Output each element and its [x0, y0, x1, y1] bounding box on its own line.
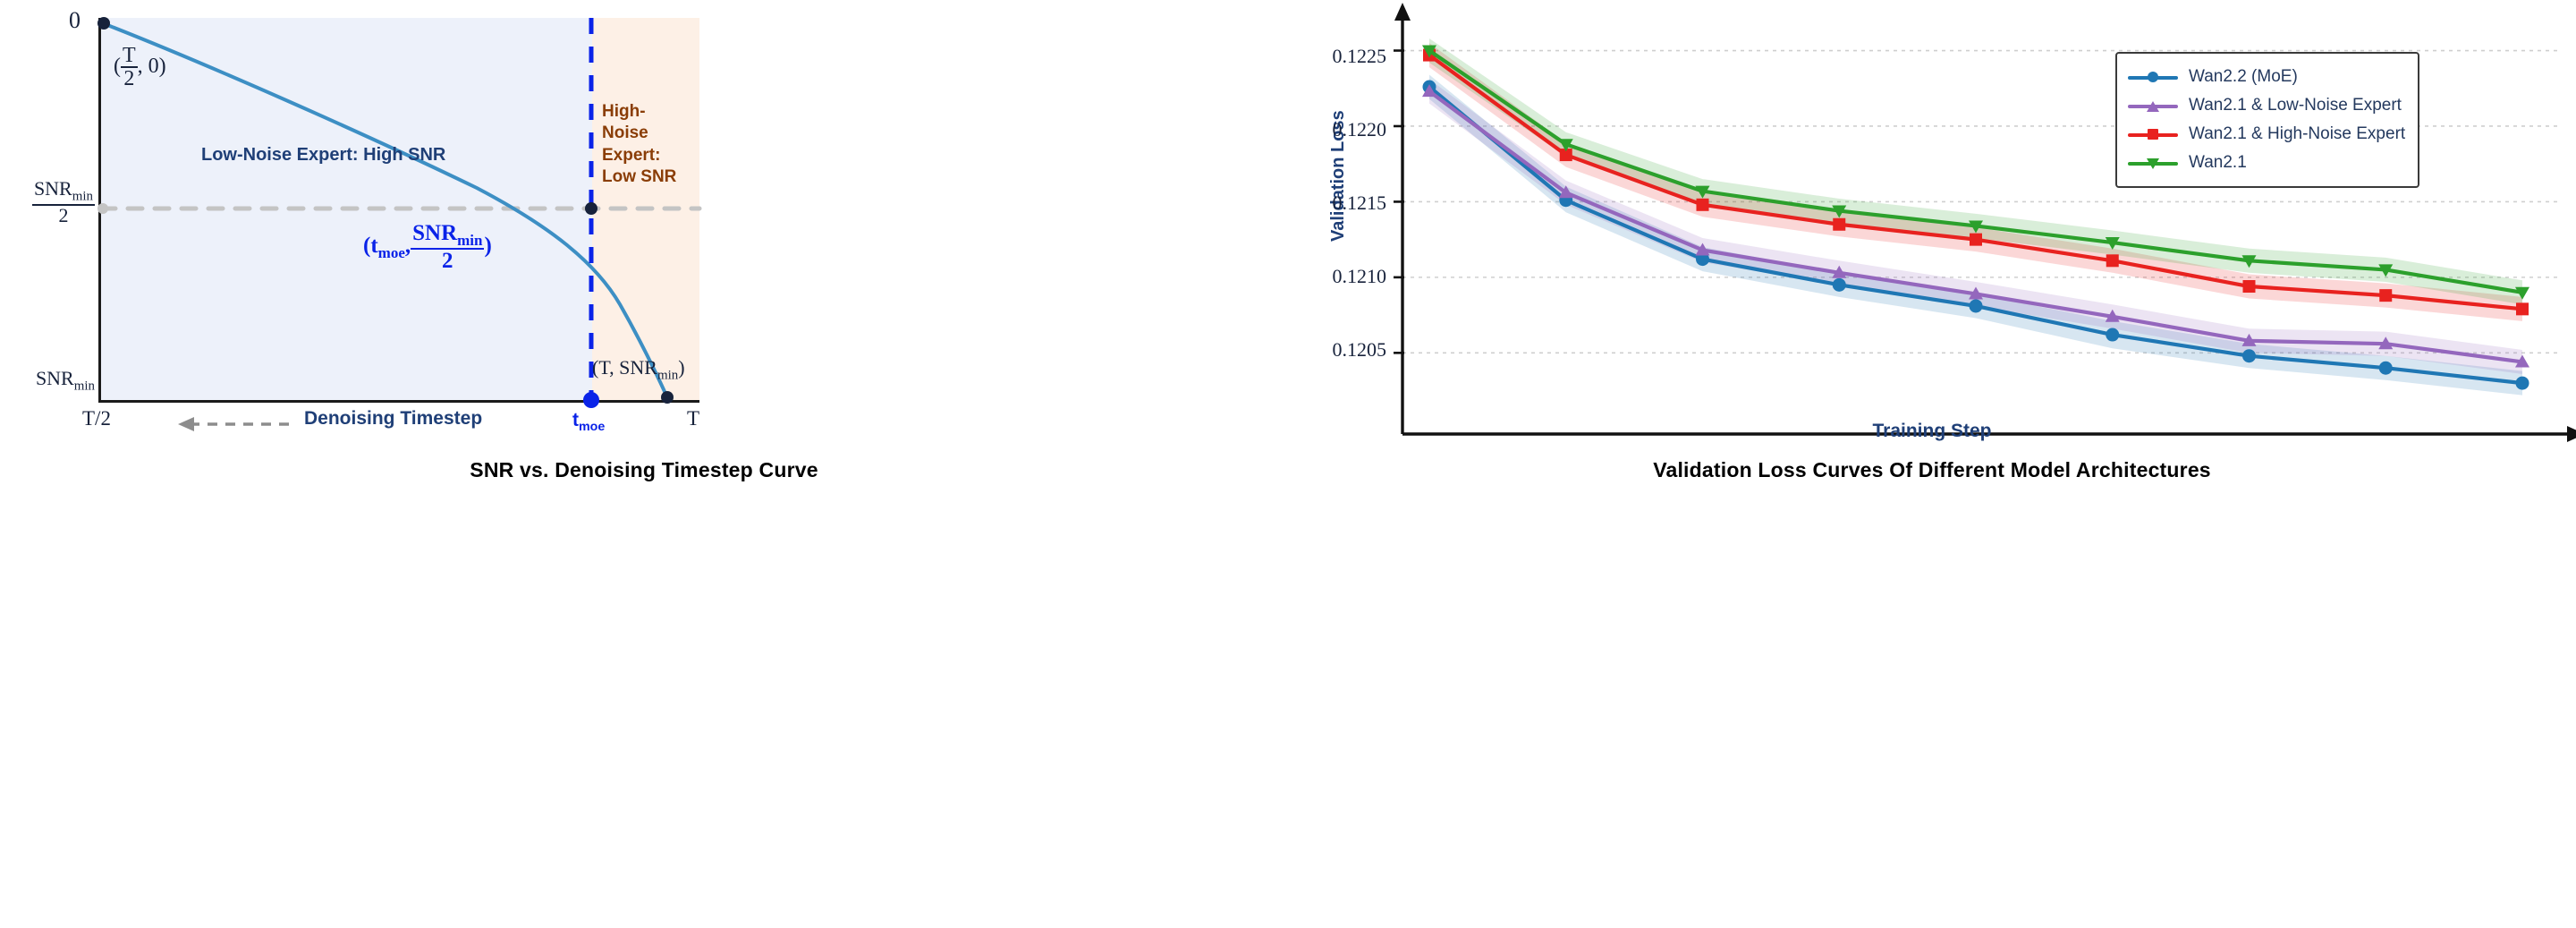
legend-swatch-0	[2128, 68, 2178, 86]
left-figure-caption: SNR vs. Denoising Timestep Curve	[0, 458, 1288, 482]
legend-label-0: Wan2.2 (MoE)	[2189, 67, 2298, 87]
curve-start-point	[97, 17, 110, 30]
legend-item-1[interactable]: Wan2.1 & Low-Noise Expert	[2128, 91, 2405, 120]
left-ytick-zero: 0	[18, 7, 80, 34]
left-ytick-snrmin-half: SNRmin 2	[0, 179, 95, 226]
annotation-tmoe-point: (tmoe,SNRmin2)	[363, 222, 492, 273]
left-x-axis-title: Denoising Timestep	[304, 408, 482, 430]
legend-swatch-3	[2128, 154, 2178, 172]
snrmin-half-axis-dot	[97, 203, 108, 214]
right-ytick-0: 0.1205	[1279, 338, 1386, 362]
data-point-marker	[1697, 199, 1709, 211]
legend-label-2: Wan2.1 & High-Noise Expert	[2189, 124, 2405, 144]
validation-loss-chart: Validation Loss 0.1205 0.1210 0.1215 0.1…	[1288, 0, 2576, 859]
data-point-marker	[2242, 349, 2256, 362]
data-point-marker	[1970, 299, 1983, 312]
data-point-marker	[1833, 278, 1846, 292]
chart-legend: Wan2.2 (MoE) Wan2.1 & Low-Noise Expert W…	[2115, 52, 2419, 188]
data-point-marker	[2379, 289, 2392, 302]
left-plot-area: (T2, 0) Low-Noise Expert: High SNR High-…	[98, 18, 699, 403]
right-ytick-3: 0.1220	[1279, 118, 1386, 141]
right-ytick-1: 0.1210	[1279, 265, 1386, 288]
t-half-fraction: T2	[121, 45, 138, 90]
annotation-start-point: (T2, 0)	[114, 45, 166, 90]
data-point-marker	[2243, 280, 2256, 293]
right-ytick-2: 0.1215	[1279, 192, 1386, 215]
data-point-marker	[2516, 377, 2529, 390]
right-ytick-4: 0.1225	[1279, 45, 1386, 68]
high-noise-line-4: Low SNR	[602, 166, 709, 188]
annotation-end-point: (T, SNRmin)	[592, 356, 685, 383]
high-noise-region-label: High- Noise Expert: Low SNR	[602, 101, 709, 188]
snr-curve-svg	[101, 18, 699, 400]
left-xtick-t-half: T/2	[82, 407, 111, 430]
left-xtick-tmoe: tmoe	[572, 410, 605, 434]
data-point-marker	[2379, 362, 2393, 375]
circle-marker-icon	[2148, 72, 2158, 82]
legend-item-0[interactable]: Wan2.2 (MoE)	[2128, 63, 2405, 91]
left-xtick-t: T	[687, 407, 699, 430]
snrmin-half-denominator: 2	[32, 204, 95, 226]
data-point-marker	[1833, 218, 1845, 231]
figure-page: SNR ( log Signal-to-Noise Ratio ) 0 SNRm…	[0, 0, 2576, 928]
legend-label-1: Wan2.1 & Low-Noise Expert	[2189, 96, 2402, 115]
right-figure-panel: Validation Loss 0.1205 0.1210 0.1215 0.1…	[1288, 0, 2576, 928]
triangle-up-marker-icon	[2147, 101, 2159, 112]
legend-swatch-1	[2128, 97, 2178, 115]
left-figure-panel: SNR ( log Signal-to-Noise Ratio ) 0 SNRm…	[0, 0, 1288, 928]
y-axis-arrowhead	[1394, 3, 1411, 21]
denoising-direction-arrow	[174, 413, 291, 435]
data-point-marker	[2516, 302, 2529, 315]
snrmin-half-numerator: SNRmin	[32, 179, 95, 204]
square-marker-icon	[2148, 129, 2158, 140]
legend-item-2[interactable]: Wan2.1 & High-Noise Expert	[2128, 120, 2405, 149]
right-figure-caption: Validation Loss Curves Of Different Mode…	[1288, 458, 2576, 482]
high-noise-line-3: Expert:	[602, 145, 709, 166]
left-ytick-snrmin: SNRmin	[0, 367, 95, 394]
high-noise-line-1: High-	[602, 101, 709, 123]
data-point-marker	[2106, 328, 2119, 342]
data-point-marker	[2106, 254, 2119, 267]
low-noise-region-label: Low-Noise Expert: High SNR	[201, 145, 445, 166]
right-x-axis-title: Training Step	[1288, 421, 2576, 442]
snrmin-half-fraction-blue: SNRmin2	[411, 222, 484, 273]
legend-label-3: Wan2.1	[2189, 153, 2247, 173]
tmoe-axis-marker	[583, 392, 599, 408]
curve-end-point	[661, 391, 674, 404]
data-point-marker	[1970, 234, 1982, 246]
legend-swatch-2	[2128, 125, 2178, 143]
triangle-down-marker-icon	[2147, 158, 2159, 169]
high-noise-line-2: Noise	[602, 123, 709, 144]
snrmin-half-fraction: SNRmin 2	[32, 179, 95, 226]
legend-item-3[interactable]: Wan2.1	[2128, 149, 2405, 177]
curve-tmoe-point	[585, 202, 597, 215]
